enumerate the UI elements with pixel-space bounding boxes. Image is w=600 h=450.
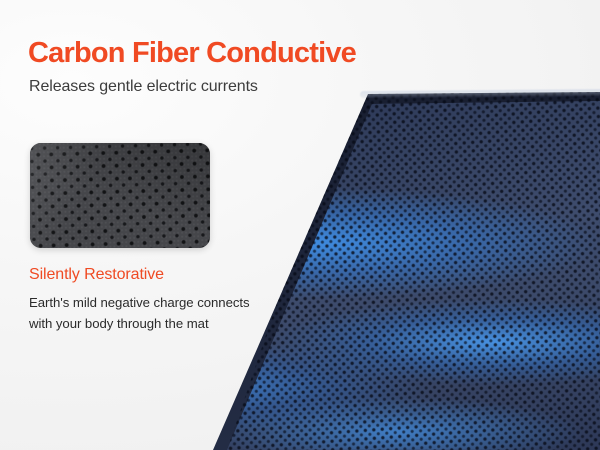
page-subtitle: Releases gentle electric currents <box>29 78 258 96</box>
feature-description-line-2: with your body through the mat <box>29 313 279 334</box>
material-swatch-image <box>30 143 210 248</box>
feature-heading: Silently Restorative <box>29 266 164 284</box>
product-feature-card: Carbon Fiber Conductive Releases gentle … <box>0 0 600 450</box>
feature-description-line-1: Earth's mild negative charge connects <box>29 292 279 313</box>
swatch-shading-overlay <box>30 143 210 248</box>
feature-description: Earth's mild negative charge connects wi… <box>29 292 279 334</box>
page-title: Carbon Fiber Conductive <box>28 38 356 68</box>
